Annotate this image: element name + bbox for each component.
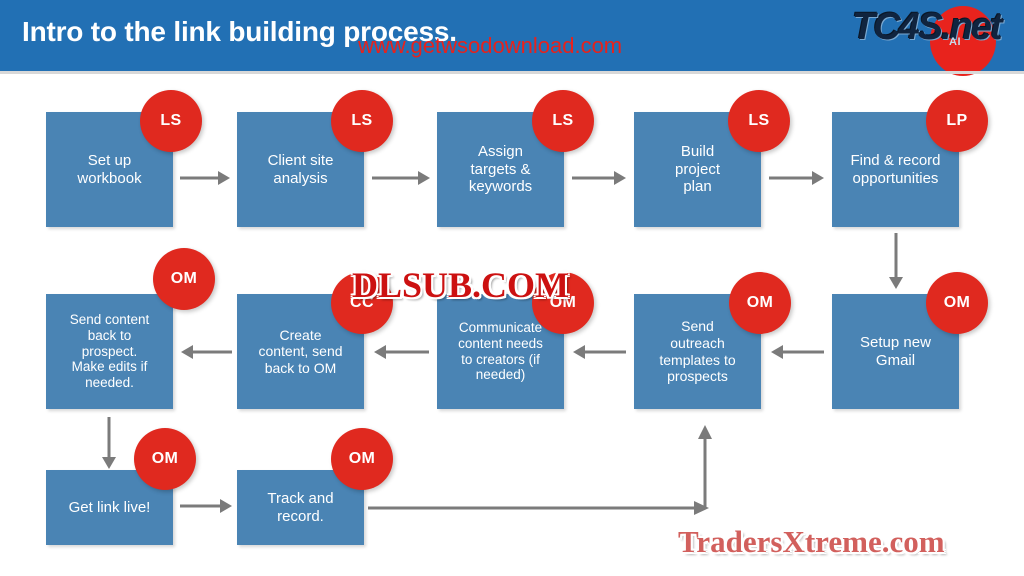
badge-find-record-opportunities[interactable]: LP (926, 90, 988, 152)
watermark-traders: TradersXtreme.com (678, 524, 945, 560)
badge-client-site-analysis[interactable]: LS (331, 90, 393, 152)
node-label: Assign targets & keywords (469, 143, 532, 196)
header-divider (0, 71, 1024, 74)
badge-track-and-record[interactable]: OM (331, 428, 393, 490)
header-banner: Intro to the link building process. www.… (0, 0, 1024, 71)
badge-get-link-live[interactable]: OM (134, 428, 196, 490)
node-label: Send outreach templates to prospects (659, 318, 735, 384)
node-label: Set up workbook (77, 152, 141, 187)
badge-setup-new-gmail[interactable]: OM (926, 272, 988, 334)
header-watermark-url: www.getwsodownload.com (358, 33, 622, 59)
badge-label: OM (171, 270, 198, 288)
arrow-down-find-to-gmail (886, 231, 906, 291)
arrow-left-outreach-to-communicate (570, 342, 628, 362)
badge-label: OM (152, 450, 179, 468)
node-label: Client site analysis (268, 152, 334, 187)
node-label: Create content, send back to OM (258, 327, 342, 377)
badge-send-content-back[interactable]: OM (153, 248, 215, 310)
arrow-right-get-link-to-track (178, 496, 234, 516)
arrow-right-client-to-assign (370, 168, 432, 188)
node-label: Find & record opportunities (850, 152, 940, 187)
arrow-left-create-to-send-content (178, 342, 234, 362)
badge-send-outreach-templates[interactable]: OM (729, 272, 791, 334)
node-label: Send content back to prospect. Make edit… (70, 312, 150, 392)
arrow-right-workbook-to-client (178, 168, 232, 188)
badge-set-up-workbook[interactable]: LS (140, 90, 202, 152)
badge-label: OM (747, 294, 774, 312)
badge-label: LS (160, 112, 181, 130)
slide-canvas: Intro to the link building process. www.… (0, 0, 1024, 576)
badge-label: OM (349, 450, 376, 468)
arrow-down-send-content-to-get-link (99, 415, 119, 471)
badge-label: LS (351, 112, 372, 130)
tc4s-logo: TC4S.net AI (852, 0, 1024, 78)
node-label: Track and record. (267, 490, 333, 525)
watermark-dlsub: DLSUB.COM (352, 264, 569, 306)
badge-label: OM (944, 294, 971, 312)
badge-label: LS (552, 112, 573, 130)
node-send-content-back[interactable]: Send content back to prospect. Make edit… (46, 294, 173, 409)
badge-label: LS (748, 112, 769, 130)
logo-text: TC4S.net (852, 6, 1024, 49)
arrow-right-build-to-find (767, 168, 826, 188)
node-label: Communicate content needs to creators (i… (458, 320, 543, 384)
node-label: Get link live! (69, 499, 151, 517)
node-label: Build project plan (675, 143, 720, 196)
arrow-left-gmail-to-outreach (768, 342, 826, 362)
badge-build-project-plan[interactable]: LS (728, 90, 790, 152)
badge-label: LP (946, 112, 967, 130)
arrow-right-assign-to-build (570, 168, 628, 188)
arrow-left-communicate-to-create (371, 342, 431, 362)
logo-subtext: AI (949, 36, 961, 48)
badge-assign-targets[interactable]: LS (532, 90, 594, 152)
arrow-loop-track-to-outreach (364, 420, 719, 520)
node-label: Setup new Gmail (860, 334, 931, 369)
